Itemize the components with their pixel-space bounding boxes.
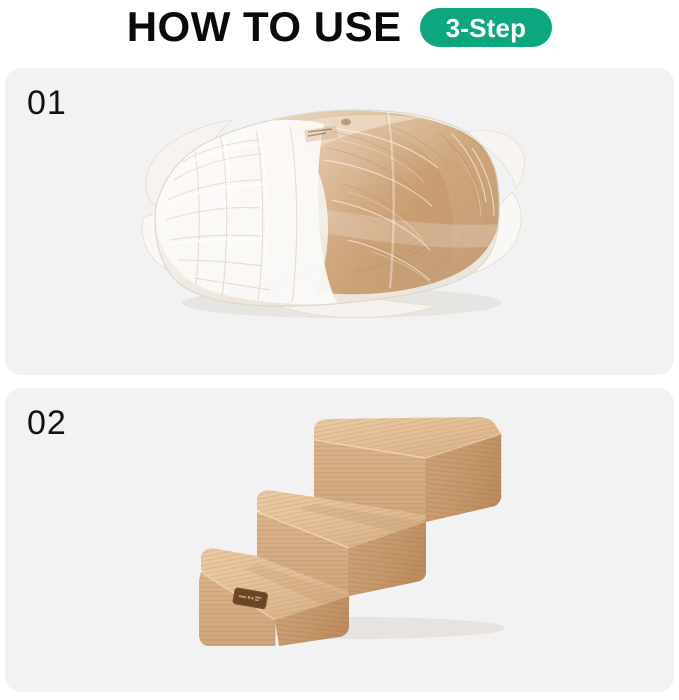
vacuum-sealed-foam-package-image: [120, 88, 550, 328]
step-count-badge: 3-Step: [420, 8, 553, 47]
step-number-label: 01: [27, 86, 67, 120]
vacuum-sealed-foam-package-illustration: [120, 88, 550, 328]
step-card-01: 01: [5, 68, 674, 375]
three-step-foam-pet-stairs-illustration: [183, 406, 528, 646]
step-image-02: [5, 388, 674, 692]
page-title: HOW TO USE: [127, 6, 402, 48]
page-header: HOW TO USE 3-Step: [0, 0, 679, 56]
three-step-foam-pet-stairs-image: [183, 406, 528, 646]
bag-body: [120, 88, 550, 328]
step-number-label: 02: [27, 406, 67, 440]
step-image-01: [5, 68, 674, 375]
step-card-02: 02: [5, 388, 674, 692]
